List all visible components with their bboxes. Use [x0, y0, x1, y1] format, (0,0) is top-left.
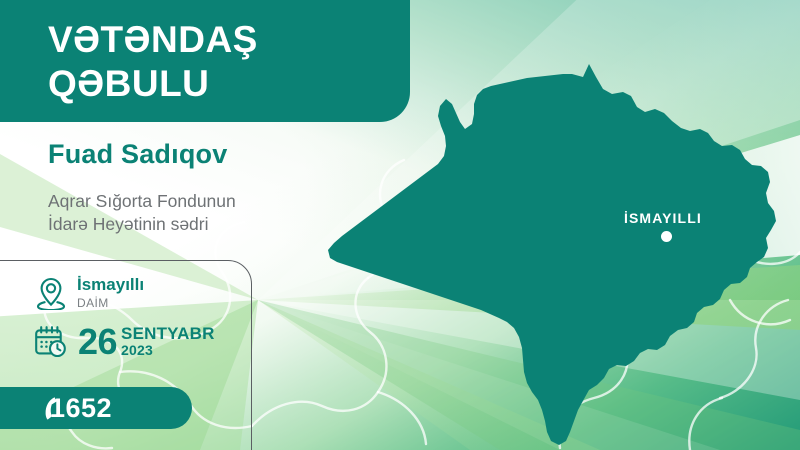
- poster-canvas: İSMAYILLI VƏTƏNDAŞ QƏBULU Fuad Sadıqov A…: [0, 0, 800, 450]
- speaker-role: Aqrar Sığorta Fondunun İdarə Heyətinin s…: [48, 190, 236, 236]
- date-day: 26: [78, 325, 117, 358]
- date-year: 2023: [121, 343, 215, 358]
- date-month: SENTYABR: [121, 325, 215, 342]
- phone-handset-icon: [40, 396, 62, 425]
- location-pin-icon: [36, 276, 66, 310]
- page-title: VƏTƏNDAŞ QƏBULU: [48, 18, 258, 105]
- speaker-name: Fuad Sadıqov: [48, 139, 227, 170]
- location-texts: İsmayıllı DAİM: [77, 276, 144, 311]
- hotline-pill[interactable]: 1652: [0, 387, 192, 429]
- date-row: 26 SENTYABR 2023: [34, 325, 215, 359]
- location-subtitle: DAİM: [77, 296, 144, 311]
- map-city-dot-icon: [661, 231, 672, 242]
- calendar-clock-icon: [34, 325, 68, 359]
- location-title: İsmayıllı: [77, 276, 144, 294]
- date-month-year: SENTYABR 2023: [121, 325, 215, 358]
- location-row: İsmayıllı DAİM: [36, 276, 144, 311]
- map-region-label: İSMAYILLI: [624, 210, 702, 226]
